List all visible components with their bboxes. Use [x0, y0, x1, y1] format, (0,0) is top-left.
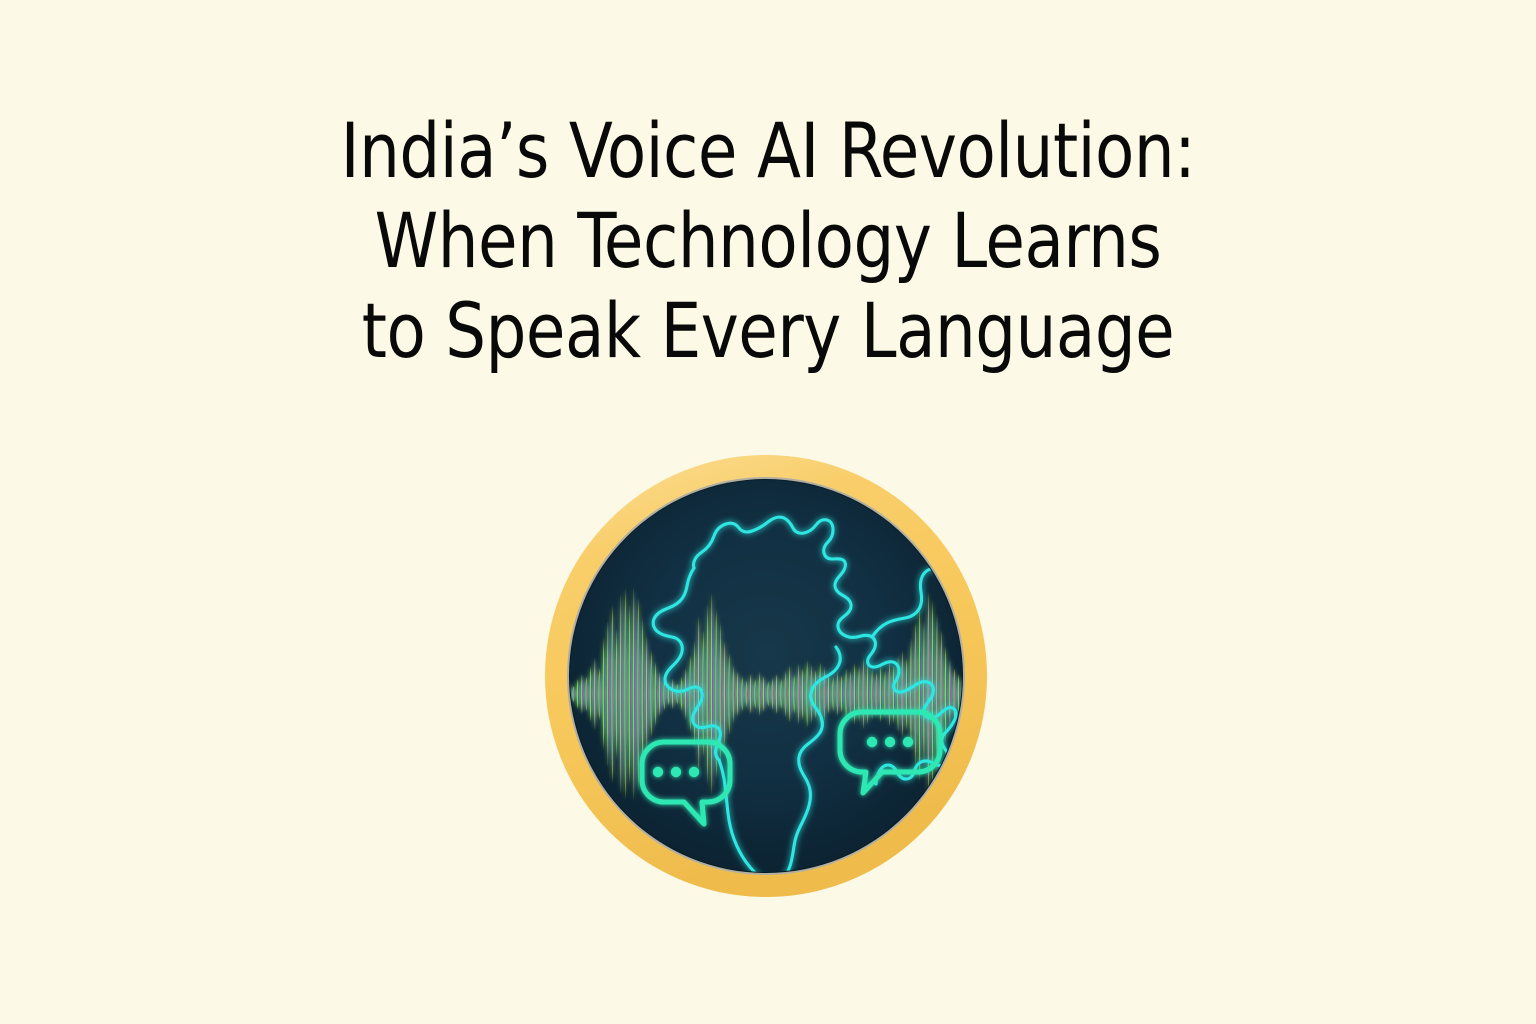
poster-canvas: India’s Voice AI Revolution: When Techno… [0, 0, 1536, 1024]
title-line-3: to Speak Every Language [46, 286, 1490, 376]
page-title: India’s Voice AI Revolution: When Techno… [0, 106, 1536, 376]
bubble-dot [671, 767, 681, 777]
india-voice-ai-emblem [542, 446, 990, 906]
emblem-disc [569, 479, 963, 873]
title-line-2: When Technology Learns [46, 196, 1490, 286]
bubble-dot [653, 767, 663, 777]
bubble-dot [903, 737, 913, 747]
bubble-dot [689, 767, 699, 777]
bubble-dot [867, 737, 877, 747]
bubble-dot [885, 737, 895, 747]
title-line-1: India’s Voice AI Revolution: [46, 106, 1490, 196]
